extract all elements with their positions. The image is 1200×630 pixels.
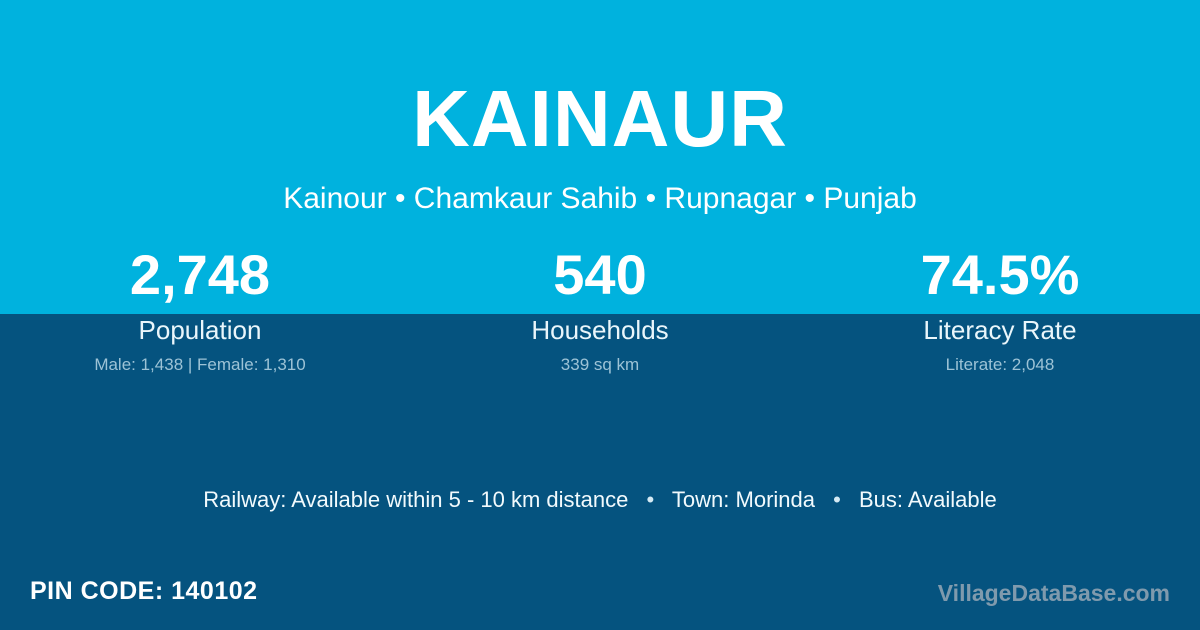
stat-sublabel: Literate: 2,048 xyxy=(800,354,1200,376)
stats-row: 2,748 Population Male: 1,438 | Female: 1… xyxy=(0,244,1200,376)
breadcrumb: Kainour • Chamkaur Sahib • Rupnagar • Pu… xyxy=(0,181,1200,217)
info-bus: Bus: Available xyxy=(859,487,997,512)
stat-households: 540 Households 339 sq km xyxy=(400,244,800,376)
stat-literacy-rate: 74.5% Literacy Rate Literate: 2,048 xyxy=(800,244,1200,376)
pin-code: PIN CODE: 140102 xyxy=(30,576,258,606)
stat-label: Population xyxy=(0,314,400,346)
stat-label: Literacy Rate xyxy=(800,314,1200,346)
info-separator-icon: • xyxy=(821,485,853,515)
stat-label: Households xyxy=(400,314,800,346)
info-town: Town: Morinda xyxy=(672,487,815,512)
info-railway: Railway: Available within 5 - 10 km dist… xyxy=(203,487,628,512)
stat-population: 2,748 Population Male: 1,438 | Female: 1… xyxy=(0,244,400,376)
stat-value: 2,748 xyxy=(0,244,400,306)
stat-value: 540 xyxy=(400,244,800,306)
stat-sublabel: Male: 1,438 | Female: 1,310 xyxy=(0,354,400,376)
stat-sublabel: 339 sq km xyxy=(400,354,800,376)
site-watermark: VillageDataBase.com xyxy=(938,578,1170,608)
amenities-info-line: Railway: Available within 5 - 10 km dist… xyxy=(0,485,1200,515)
stat-value: 74.5% xyxy=(800,244,1200,306)
info-separator-icon: • xyxy=(635,485,667,515)
page-title: KAINAUR xyxy=(0,79,1200,159)
card-content-layer: KAINAUR Kainour • Chamkaur Sahib • Rupna… xyxy=(0,0,1200,630)
